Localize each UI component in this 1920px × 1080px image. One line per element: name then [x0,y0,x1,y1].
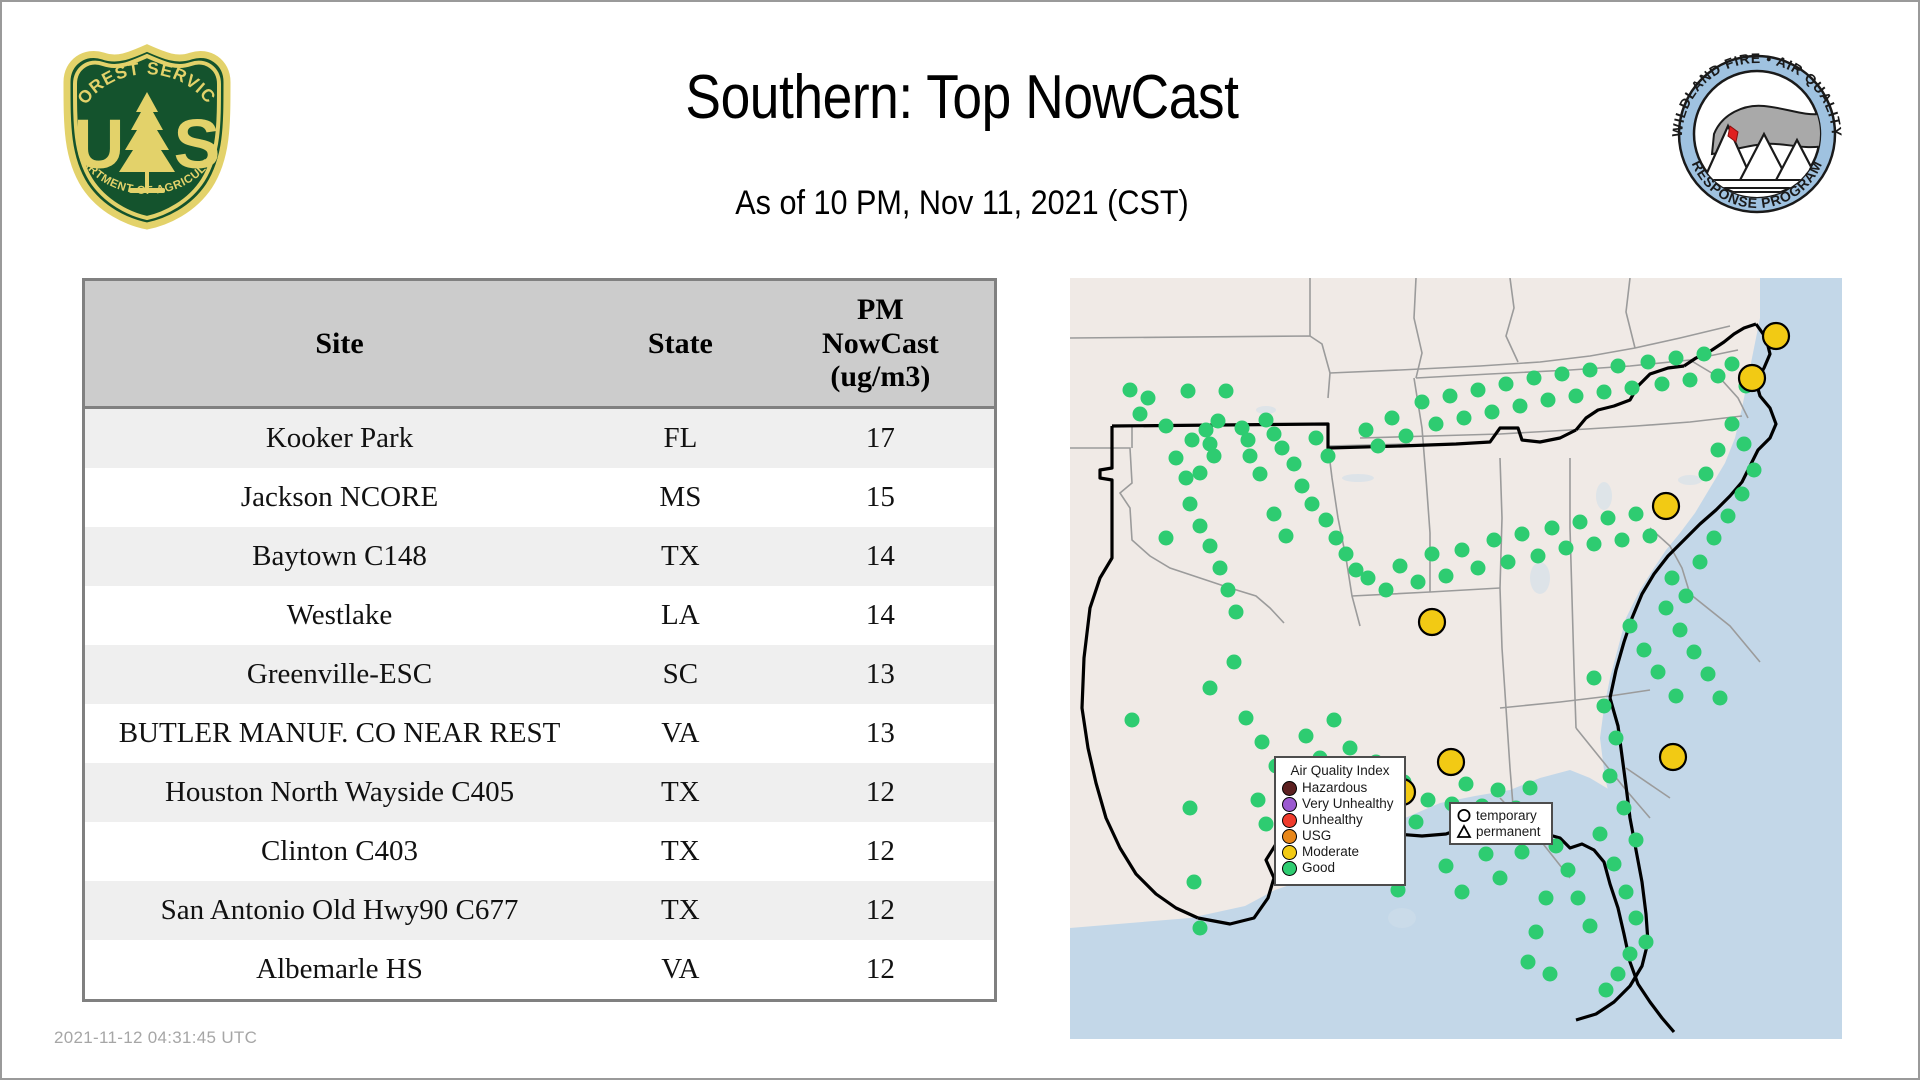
cell-state: SC [594,645,767,704]
monitor-dot-greenville-esc-sc[interactable] [1653,493,1679,519]
svg-text:U: U [74,105,125,183]
column-header-pm-line2: NowCast [771,327,990,361]
slide-page: FOREST SERVICE DEPARTMENT OF AGRICULTURE… [0,0,1920,1080]
cell-state: VA [594,940,767,999]
type-label-permanent: permanent [1476,824,1541,840]
monitor-dot-jackson-ncore-ms[interactable] [1419,609,1445,635]
top-nowcast-table: Site State PM NowCast (ug/m3) Kooker Par… [85,281,994,999]
cell-value: 13 [767,704,994,763]
monitor-dot-westlake-la[interactable] [1438,749,1464,775]
cell-site: Westlake [85,586,594,645]
column-header-site: Site [85,281,594,407]
cell-value: 12 [767,822,994,881]
cell-state: LA [594,586,767,645]
cell-value: 12 [767,940,994,999]
aqi-legend-item-usg: USG [1282,829,1398,844]
cell-site: BUTLER MANUF. CO NEAR REST [85,704,594,763]
type-legend-item-temporary: temporary [1456,808,1546,824]
aqi-legend-item-good: Good [1282,861,1398,876]
cell-state: TX [594,763,767,822]
aqi-swatch-usg [1282,829,1297,844]
cell-value: 15 [767,468,994,527]
aqi-legend-title: Air Quality Index [1282,763,1398,778]
column-header-site-label: Site [315,327,363,360]
aqi-legend-item-moderate: Moderate [1282,845,1398,860]
cell-state: FL [594,407,767,468]
monitor-type-legend: temporary permanent [1449,802,1553,845]
top-nowcast-table-container: Site State PM NowCast (ug/m3) Kooker Par… [82,278,997,1002]
table-row: San Antonio Old Hwy90 C677 TX 12 [85,881,994,940]
table-row: Jackson NCORE MS 15 [85,468,994,527]
cell-site: Kooker Park [85,407,594,468]
triangle-marker-icon [1456,824,1472,839]
cell-value: 17 [767,407,994,468]
wildland-fire-air-quality-logo: WILDLAND FIRE • AIR QUALITY RESPONSE PRO… [1652,42,1862,227]
cell-site: Clinton C403 [85,822,594,881]
monitor-map[interactable] [1070,278,1842,1039]
cell-state: TX [594,527,767,586]
monitor-dot-kooker-park-fl[interactable] [1660,744,1686,770]
page-title: Southern: Top NowCast [136,62,1787,133]
aqi-label-moderate: Moderate [1302,845,1359,860]
table-header: Site State PM NowCast (ug/m3) [85,281,994,407]
aqi-label-hazardous: Hazardous [1302,781,1367,796]
aqi-swatch-moderate [1282,845,1297,860]
cell-site: Houston North Wayside C405 [85,763,594,822]
table-row: Clinton C403 TX 12 [85,822,994,881]
aqi-swatch-unhealthy [1282,813,1297,828]
cell-site: Baytown C148 [85,527,594,586]
table-row: Baytown C148 TX 14 [85,527,994,586]
air-quality-index-legend: Air Quality Index Hazardous Very Unhealt… [1274,756,1406,886]
cell-value: 12 [767,763,994,822]
cell-site: Greenville-ESC [85,645,594,704]
cell-value: 14 [767,527,994,586]
column-header-state: State [594,281,767,407]
cell-state: MS [594,468,767,527]
table-header-row: Site State PM NowCast (ug/m3) [85,281,994,407]
type-legend-item-permanent: permanent [1456,824,1546,840]
aqi-label-usg: USG [1302,829,1331,844]
cell-site: Albemarle HS [85,940,594,999]
cell-state: TX [594,881,767,940]
column-header-pm-line3: (ug/m3) [771,360,990,394]
cell-site: Jackson NCORE [85,468,594,527]
monitor-dot-butler-manuf-va[interactable] [1763,323,1789,349]
table-body: Kooker Park FL 17 Jackson NCORE MS 15 Ba… [85,407,994,999]
wfaq-program-seal-icon: WILDLAND FIRE • AIR QUALITY RESPONSE PRO… [1652,42,1862,227]
column-header-pm-nowcast: PM NowCast (ug/m3) [767,281,994,407]
aqi-label-unhealthy: Unhealthy [1302,813,1363,828]
map-canvas [1070,278,1842,1039]
table-row: Greenville-ESC SC 13 [85,645,994,704]
table-row: Houston North Wayside C405 TX 12 [85,763,994,822]
table-row: Westlake LA 14 [85,586,994,645]
aqi-swatch-good [1282,861,1297,876]
cell-value: 12 [767,881,994,940]
cell-site: San Antonio Old Hwy90 C677 [85,881,594,940]
aqi-legend-item-very-unhealthy: Very Unhealthy [1282,797,1398,812]
cell-value: 14 [767,586,994,645]
aqi-swatch-very-unhealthy [1282,797,1297,812]
aqi-legend-item-unhealthy: Unhealthy [1282,813,1398,828]
aqi-swatch-hazardous [1282,781,1297,796]
table-row: Kooker Park FL 17 [85,407,994,468]
column-header-state-label: State [648,327,713,360]
cell-value: 13 [767,645,994,704]
cell-state: TX [594,822,767,881]
monitor-dot-albemarle-hs-va[interactable] [1739,365,1765,391]
generated-timestamp: 2021-11-12 04:31:45 UTC [54,1028,257,1048]
aqi-label-very-unhealthy: Very Unhealthy [1302,797,1394,812]
table-row: Albemarle HS VA 12 [85,940,994,999]
aqi-legend-item-hazardous: Hazardous [1282,781,1398,796]
type-label-temporary: temporary [1476,808,1537,824]
column-header-pm-line1: PM [771,293,990,327]
circle-marker-icon [1456,808,1472,823]
table-row: BUTLER MANUF. CO NEAR REST VA 13 [85,704,994,763]
cell-state: VA [594,704,767,763]
page-subtitle: As of 10 PM, Nov 11, 2021 (CST) [98,184,1826,223]
aqi-label-good: Good [1302,861,1335,876]
